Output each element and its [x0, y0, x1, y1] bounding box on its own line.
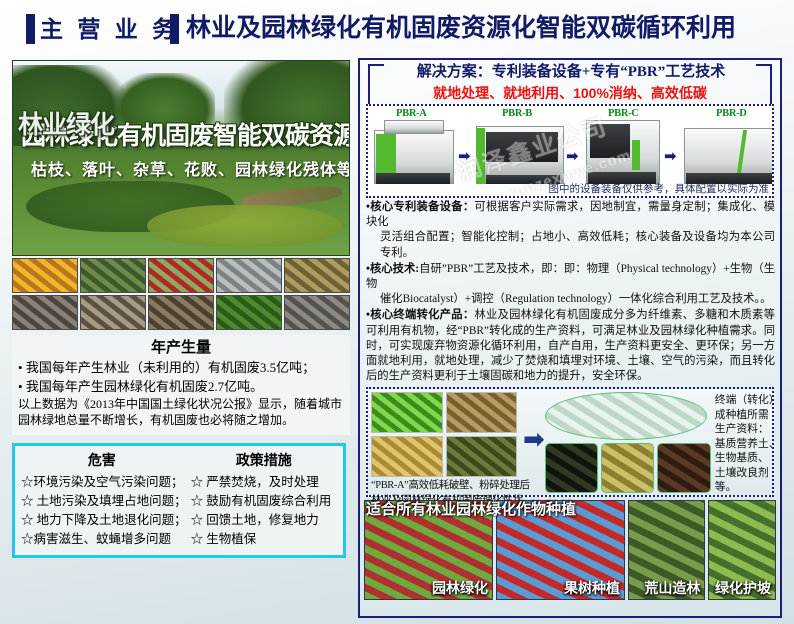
thumbnail-5 [12, 295, 78, 330]
waste-thumbnail-grid [12, 258, 350, 330]
application-caption-1: 果树种植 [564, 578, 620, 598]
thumbnail-1 [80, 258, 146, 293]
annual-output-heading: 年产生量 [18, 338, 344, 358]
products-desc-line-0: 终端（转化） [715, 393, 780, 408]
machine-label-pbr-d: PBR-D [716, 108, 747, 119]
conversion-arrow-icon: ➡ [523, 389, 545, 489]
right-column-solution-panel: 解决方案：专利装备设备+专有“PBR”工艺技术 就地处理、就地利用、100%消纳… [358, 58, 782, 618]
policy-item-0: ☆ 严禁焚烧，及时处理 [187, 473, 341, 492]
products-input-grid [371, 392, 517, 477]
product-photo-1 [446, 392, 518, 433]
products-output-row [545, 443, 711, 493]
bullet-item-0: •核心专利装备设备：可根据客户实际需求，因地制宜，需量身定制；集成化、模块化 灵… [366, 200, 775, 261]
flow-arrow-3-icon: ➡ [664, 152, 677, 162]
harm-item-2: ☆ 地力下降及土地退化问题； [17, 511, 187, 530]
flow-arrow-2-icon: ➡ [566, 152, 579, 162]
machine-label-pbr-a: PBR-A [396, 108, 427, 119]
bullet-bold-2: 核心终端转化产品： [370, 309, 474, 321]
bullet-bold-0: 核心专利装备设备： [370, 201, 474, 213]
annual-output-bullet-1: 我国每年产生园林绿化有机固废2.7亿吨。 [18, 377, 344, 396]
machine-pbr-b [476, 126, 562, 184]
thumbnail-8 [216, 295, 282, 330]
products-desc-line-3: 基质营养土、 [715, 437, 780, 452]
policy-column: 政策措施 ☆ 严禁焚烧，及时处理 ☆ 鼓励有机固废综合利用 ☆ 回馈土地，修复地… [187, 450, 341, 549]
product-photo-packages [545, 392, 707, 440]
bullet-text-2: 林业及园林绿化有机固废成分多为纤维素、多糖和木质素等 [474, 309, 775, 321]
products-conversion-panel: “PBR-A”高效低耗破壁、粉碎处理后 林业及园林绿化有机固废理化性状 ➡ 终端… [366, 387, 774, 497]
machine-pbr-c [586, 118, 658, 184]
harm-policy-table: 危害 ☆环境污染及空气污染问题； ☆ 土地污染及填埋占地问题； ☆ 地力下降及土… [12, 443, 346, 558]
harm-item-3: ☆病害滋生、蚊蝇增多问题 [17, 530, 187, 549]
products-desc-line-5: 土壤改良剂 [715, 466, 780, 481]
products-input-caption-line1: “PBR-A”高效低耗破壁、粉碎处理后 [371, 479, 523, 492]
thumbnail-6 [80, 295, 146, 330]
application-caption-0: 园林绿化 [432, 578, 488, 598]
bullet-text-1: 自研”PBR”工艺及技术，即：即：物理（Physical technology）… [366, 263, 775, 290]
equipment-flow-diagram: PBR-A ➡ PBR-B ➡ PBR-C ➡ PBR-D 润泽鑫业公司 [366, 104, 774, 198]
annual-output-bullet-0: 我国每年产生林业（未利用的）有机固废3.5亿吨； [18, 358, 344, 377]
header-section-tag: 主 营 业 务 [40, 14, 168, 44]
thumbnail-3 [216, 258, 282, 293]
hero-landscape-photo: 林业绿化 园林绿化有机固废智能双碳资源化循环利用 枯枝、落叶、杂草、花败、园林绿… [12, 60, 350, 256]
application-caption-2: 荒山造林 [644, 578, 700, 598]
page-title: 林业及园林绿化有机固废资源化智能双碳循环利用 [186, 12, 736, 44]
hero-overlay-subtitle: 枯枝、落叶、杂草、花败、园林绿化残体等 [31, 161, 347, 181]
product-photo-soil-bag [657, 443, 710, 493]
hero-overlay-title: 林业绿化 园林绿化有机固废智能双碳资源化循环利用 [21, 123, 347, 149]
equipment-disclaimer: 图中的设备装备仅供参考，具体配置以实际为准 [549, 181, 770, 196]
policy-heading: 政策措施 [187, 450, 341, 470]
hero-overlay-ghost-title: 林业绿化 [18, 112, 114, 138]
application-photo-strip: 适合所有林业园林绿化作物种植 园林绿化 果树种植 荒山造林 绿化护坡 [364, 500, 776, 600]
bullet-bold-1: 核心技术: [370, 263, 419, 275]
solution-header: 解决方案：专利装备设备+专有“PBR”工艺技术 [366, 62, 774, 84]
hero-hedge-light [147, 205, 342, 248]
machine-pbr-d [684, 128, 774, 184]
thumbnail-7 [148, 295, 214, 330]
bullet-cont-0: 灵活组合配置；智能化控制；占地小、高效低耗；核心装备及设备均为本公司专利。 [366, 230, 775, 260]
application-banner: 适合所有林业园林绿化作物种植 [366, 498, 576, 519]
flow-arrow-1-icon: ➡ [458, 152, 471, 162]
thumbnail-2 [148, 258, 214, 293]
header-accent-bar-right [170, 14, 179, 44]
policy-item-2: ☆ 回馈土地，修复地力 [187, 511, 341, 530]
feature-bullet-list: •核心专利装备设备：可根据客户实际需求，因地制宜，需量身定制；集成化、模块化 灵… [366, 200, 775, 384]
products-description: 终端（转化） 成种植所需 生产资料： 基质营养土、 生物基质、 土壤改良剂 等。 [711, 389, 782, 495]
page-header: 主 营 业 务 林业及园林绿化有机固废资源化智能双碳循环利用 [0, 0, 794, 56]
solution-subtitle: 就地处理、就地利用、100%消纳、高效低碳 [366, 84, 774, 102]
annual-output-note: 以上数据为《2013年中国国土绿化状况公报》显示，随着城市园林绿地总量不断增长，… [18, 396, 344, 428]
product-photo-2 [371, 436, 443, 477]
products-output-group [545, 389, 711, 493]
bullet-item-2: •核心终端转化产品：林业及园林绿化有机固废成分多为纤维素、多糖和木质素等 可利用… [366, 308, 775, 384]
application-cell-3: 绿化护坡 [708, 500, 776, 600]
products-desc-line-2: 生产资料： [715, 422, 780, 437]
machine-pbr-a [374, 122, 452, 184]
products-desc-line-4: 生物基质、 [715, 451, 780, 466]
harm-item-1: ☆ 土地污染及填埋占地问题； [17, 492, 187, 511]
thumbnail-4 [284, 258, 350, 293]
thumbnail-9 [284, 295, 350, 330]
products-input-group: “PBR-A”高效低耗破壁、粉碎处理后 林业及园林绿化有机固废理化性状 [368, 389, 523, 507]
application-cell-2: 荒山造林 [628, 500, 705, 600]
products-desc-line-1: 成种植所需 [715, 408, 780, 423]
annual-output-box: 年产生量 我国每年产生林业（未利用的）有机固废3.5亿吨； 我国每年产生园林绿化… [12, 335, 350, 435]
products-desc-line-6: 等。 [715, 480, 780, 495]
machine-label-pbr-c: PBR-C [608, 108, 639, 119]
left-column: 林业绿化 园林绿化有机固废智能双碳资源化循环利用 枯枝、落叶、杂草、花败、园林绿… [12, 60, 350, 616]
bullet-cont-2: 可利用有机物，经“PBR”转化成的生产资料，可满足林业及园林绿化种植需求。同时，… [366, 325, 775, 383]
harm-column: 危害 ☆环境污染及空气污染问题； ☆ 土地污染及填埋占地问题； ☆ 地力下降及土… [17, 450, 187, 549]
product-photo-granules [545, 443, 598, 493]
bullet-item-1: •核心技术:自研”PBR”工艺及技术，即：即：物理（Physical techn… [366, 262, 775, 308]
harm-item-0: ☆环境污染及空气污染问题； [17, 473, 187, 492]
header-accent-bar-left [26, 14, 35, 44]
policy-item-1: ☆ 鼓励有机固废综合利用 [187, 492, 341, 511]
product-photo-liquid [601, 443, 654, 493]
thumbnail-0 [12, 258, 78, 293]
policy-item-3: ☆ 生物植保 [187, 530, 341, 549]
solution-title: 解决方案：专利装备设备+专有“PBR”工艺技术 [378, 62, 764, 83]
machine-label-pbr-b: PBR-B [502, 108, 532, 119]
harm-heading: 危害 [17, 450, 187, 470]
bullet-cont-1: 催化Biocatalyst）+调控（Regulation technology）… [366, 292, 775, 307]
application-caption-3: 绿化护坡 [715, 578, 771, 598]
product-photo-3 [446, 436, 518, 477]
product-photo-0 [371, 392, 443, 433]
